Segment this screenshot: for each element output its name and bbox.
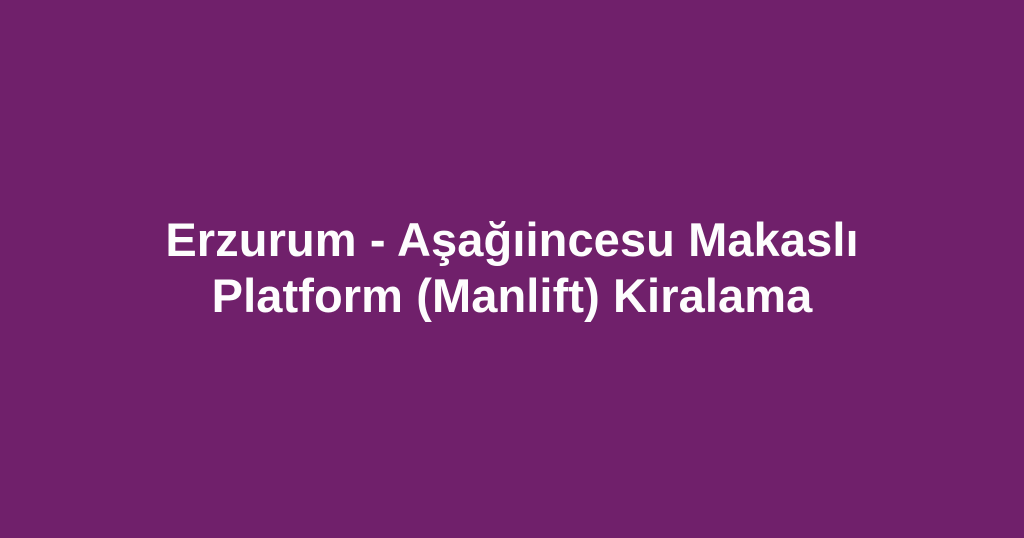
share-card-canvas: Erzurum - Aşağıincesu Makaslı Platform (…: [0, 0, 1024, 538]
page-title: Erzurum - Aşağıincesu Makaslı Platform (…: [162, 212, 862, 324]
card-content-wrapper: Erzurum - Aşağıincesu Makaslı Platform (…: [0, 212, 1024, 324]
